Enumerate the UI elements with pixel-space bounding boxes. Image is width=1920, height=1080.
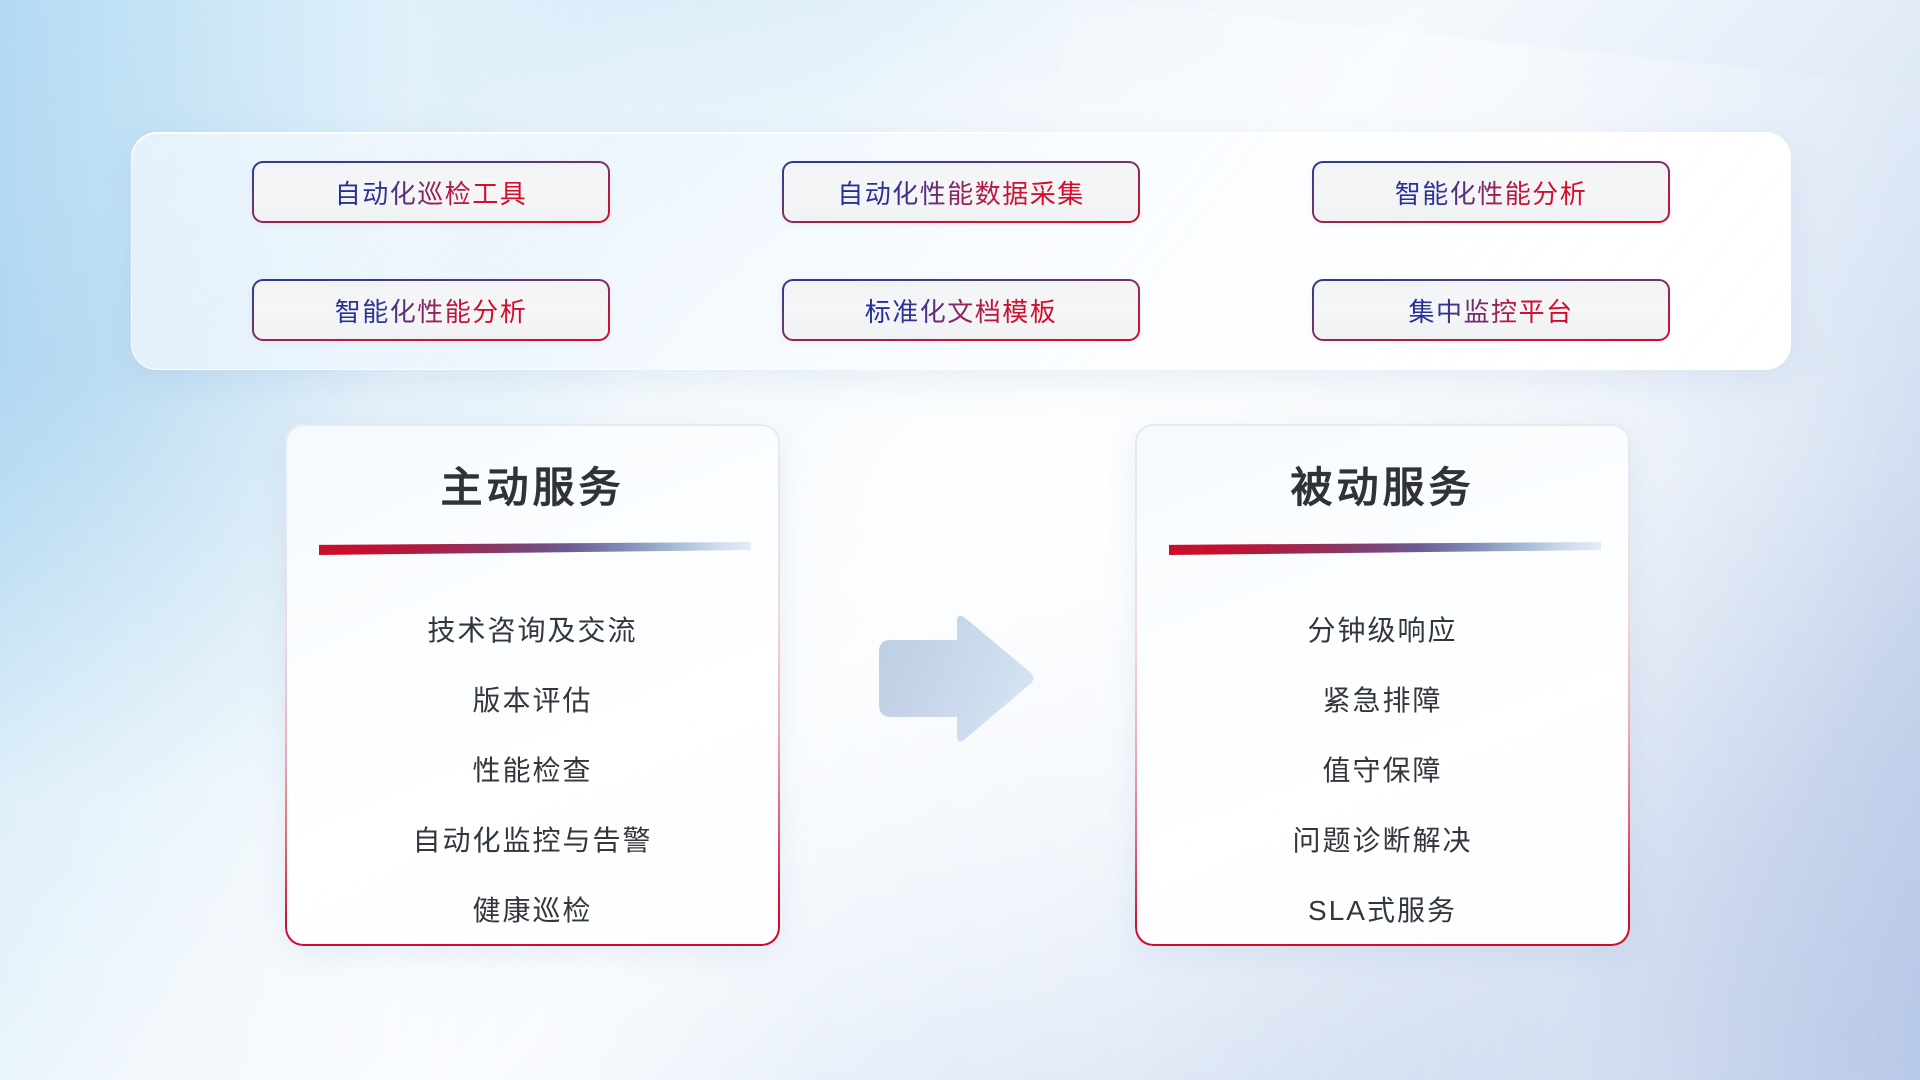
card-list-item: 紧急排障 [1322,666,1442,736]
capability-pill-label: 集中监控平台 [1408,292,1573,329]
card-list-item: SLA式服务 [1308,876,1457,946]
card-title: 被动服务 [1135,454,1630,515]
capability-pill-5[interactable]: 标准化文档模板 [782,279,1140,341]
card-list-item: 问题诊断解决 [1292,806,1472,876]
card-list-item: 性能检查 [472,736,592,806]
capability-pill-label: 智能化性能分析 [1395,174,1588,211]
service-card-reactive[interactable]: 被动服务 分钟级响应 紧急排障 值守保障 问题诊断解决 SLA式服务 [1135,424,1630,946]
capability-pill-3[interactable]: 智能化性能分析 [1312,161,1670,223]
card-list-item: 健康巡检 [472,876,592,946]
card-item-list: 分钟级响应 紧急排障 值守保障 问题诊断解决 SLA式服务 [1135,596,1630,946]
card-item-list: 技术咨询及交流 版本评估 性能检查 自动化监控与告警 健康巡检 [285,596,780,946]
card-list-item: 技术咨询及交流 [427,596,637,666]
capabilities-grid: 自动化巡检工具 自动化性能数据采集 智能化性能分析 智能化性能分析 标准化文档模… [132,133,1790,369]
card-list-item: 自动化监控与告警 [412,806,652,876]
capability-pill-2[interactable]: 自动化性能数据采集 [782,161,1140,223]
card-title: 主动服务 [285,454,780,515]
capability-pill-label: 标准化文档模板 [865,292,1058,329]
service-card-proactive[interactable]: 主动服务 技术咨询及交流 版本评估 性能检查 自动化监控与告警 健康巡检 [285,424,780,946]
capability-pill-6[interactable]: 集中监控平台 [1312,279,1670,341]
arrow-right-icon [873,612,1037,746]
card-list-item: 版本评估 [472,666,592,736]
capability-pill-label: 智能化性能分析 [335,292,528,329]
capabilities-panel: 自动化巡检工具 自动化性能数据采集 智能化性能分析 智能化性能分析 标准化文档模… [131,132,1791,370]
capability-pill-1[interactable]: 自动化巡检工具 [252,161,610,223]
card-accent-rule [1169,542,1601,555]
card-accent-rule [319,542,751,555]
slide-canvas: 自动化巡检工具 自动化性能数据采集 智能化性能分析 智能化性能分析 标准化文档模… [0,0,1920,1080]
capability-pill-label: 自动化性能数据采集 [837,174,1085,211]
card-list-item: 分钟级响应 [1307,596,1457,666]
capability-pill-label: 自动化巡检工具 [335,174,528,211]
capability-pill-4[interactable]: 智能化性能分析 [252,279,610,341]
card-list-item: 值守保障 [1322,736,1442,806]
